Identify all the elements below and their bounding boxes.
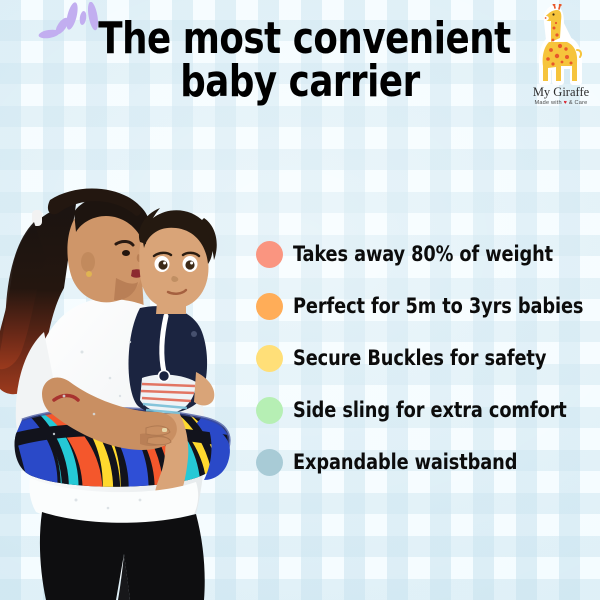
- sparkle-burst-icon: [36, 2, 102, 48]
- bullet-dot-5: [256, 449, 283, 476]
- feature-item: Perfect for 5m to 3yrs babies: [256, 280, 600, 332]
- promo-poster: The most convenient baby carrier: [0, 0, 600, 600]
- feature-list: Takes away 80% of weight Perfect for 5m …: [256, 228, 600, 488]
- mother-and-baby-photo: [0, 182, 270, 600]
- tagline-prefix: Made with: [535, 100, 564, 106]
- tagline-suffix: & Care: [567, 100, 587, 106]
- feature-item: Secure Buckles for safety: [256, 332, 600, 384]
- brand-tagline: Made with ♥ & Care: [524, 100, 598, 106]
- brand-name: My Giraffe: [524, 86, 598, 99]
- brand-logo: My Giraffe Made with ♥ & Care: [524, 4, 598, 106]
- bullet-dot-3: [256, 345, 283, 372]
- bullet-dot-1: [256, 241, 283, 268]
- giraffe-icon: [531, 4, 591, 88]
- feature-item: Expandable waistband: [256, 436, 600, 488]
- bullet-dot-4: [256, 397, 283, 424]
- feature-label-1: Takes away 80% of weight: [293, 244, 553, 265]
- headline-line-2: baby carrier: [30, 61, 570, 104]
- headline-line-1: The most convenient: [30, 18, 570, 61]
- bullet-dot-2: [256, 293, 283, 320]
- feature-label-4: Side sling for extra comfort: [293, 400, 567, 421]
- feature-label-2: Perfect for 5m to 3yrs babies: [293, 296, 583, 317]
- feature-label-3: Secure Buckles for safety: [293, 348, 546, 369]
- feature-item: Side sling for extra comfort: [256, 384, 600, 436]
- headline: The most convenient baby carrier: [30, 18, 570, 103]
- feature-label-5: Expandable waistband: [293, 452, 517, 473]
- feature-item: Takes away 80% of weight: [256, 228, 600, 280]
